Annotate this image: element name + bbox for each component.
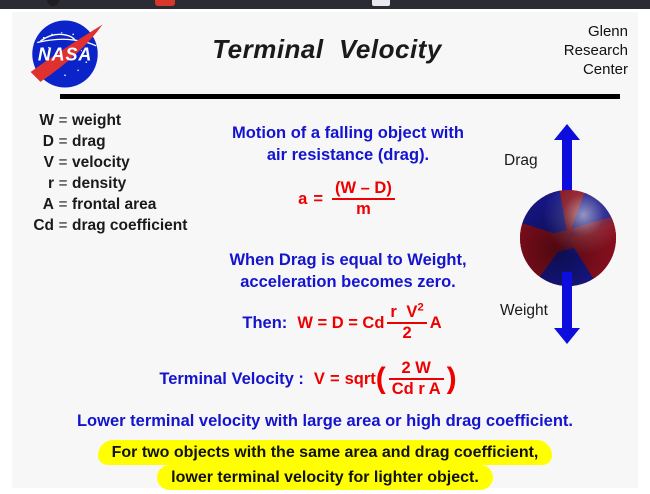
legend-symbol: V — [22, 152, 54, 173]
drag-equation-area: A — [430, 314, 442, 333]
nasa-logo: NASA — [24, 18, 106, 90]
highlighted-conclusion: For two objects with the same area and d… — [20, 440, 630, 490]
weight-arrow-shaft — [562, 272, 572, 332]
open-paren: ( — [376, 368, 386, 390]
weight-label: Weight — [500, 302, 548, 320]
tab-favicon-dark-icon[interactable] — [47, 0, 59, 6]
conclusion-line: Lower terminal velocity with large area … — [20, 412, 630, 431]
acceleration-lhs: a — [298, 190, 307, 209]
drag-equation: Then: W = D = Cd r V2 2 A — [162, 304, 522, 343]
terminal-velocity-numerator: 2 W — [399, 360, 434, 377]
terminal-velocity-label: Terminal Velocity : — [159, 370, 314, 389]
acceleration-numerator: (W – D) — [332, 180, 395, 197]
svg-text:NASA: NASA — [38, 45, 92, 65]
numerator-velocity: V — [401, 303, 417, 321]
terminal-velocity-equals: = — [325, 370, 345, 389]
numerator-exponent: 2 — [417, 302, 423, 314]
motion-statement: Motion of a falling object with air resi… — [188, 122, 508, 166]
legend-equals: = — [54, 110, 72, 131]
legend-equals: = — [54, 215, 72, 236]
motion-statement-line-2: air resistance (drag). — [188, 144, 508, 166]
legend-symbol: r — [22, 173, 54, 194]
center-name-line-3: Center — [508, 60, 628, 79]
legend-equals: = — [54, 194, 72, 215]
force-diagram: Drag Weight — [502, 120, 638, 348]
numerator-density: r — [390, 303, 396, 321]
research-center-name: Glenn Research Center — [508, 22, 628, 79]
terminal-velocity-denominator: Cd r A — [389, 381, 444, 398]
tab-favicon-red-icon[interactable] — [155, 0, 175, 6]
center-name-line-1: Glenn — [508, 22, 628, 41]
drag-label: Drag — [504, 152, 538, 170]
legend-symbol: A — [22, 194, 54, 215]
sqrt-function: sqrt — [345, 370, 376, 389]
condition-line-1: When Drag is equal to Weight, — [188, 249, 508, 271]
tab-favicon-light-icon[interactable] — [372, 0, 390, 6]
equilibrium-condition: When Drag is equal to Weight, accelerati… — [188, 249, 508, 293]
highlighted-line-2: lower terminal velocity for lighter obje… — [157, 465, 493, 490]
drag-equation-lhs: W = D = Cd — [297, 314, 384, 333]
legend-symbol: Cd — [22, 215, 54, 236]
legend-symbol: W — [22, 110, 54, 131]
acceleration-denominator: m — [353, 201, 374, 218]
drag-equation-fraction: r V2 2 — [387, 304, 426, 343]
drag-equation-denominator: 2 — [399, 325, 414, 342]
header-divider — [60, 94, 620, 99]
arrow-down-icon — [554, 328, 580, 344]
highlighted-line-1: For two objects with the same area and d… — [98, 440, 553, 465]
center-name-line-2: Research — [508, 41, 628, 60]
drag-equation-numerator: r V2 — [387, 304, 426, 321]
close-paren: ) — [447, 368, 457, 390]
terminal-velocity-fraction: 2 W Cd r A — [389, 360, 444, 399]
lesson-page-panel: NASA Terminal Velocity Glenn Research Ce… — [12, 12, 638, 488]
legend-symbol: D — [22, 131, 54, 152]
acceleration-equation: a = (W – D) m — [188, 180, 508, 219]
drag-arrow-shaft — [562, 136, 572, 196]
motion-statement-line-1: Motion of a falling object with — [188, 122, 508, 144]
terminal-velocity-equation: Terminal Velocity : V = sqrt ( 2 W Cd r … — [98, 360, 518, 399]
page-title: Terminal Velocity — [162, 34, 492, 65]
condition-line-2: acceleration becomes zero. — [188, 271, 508, 293]
then-prefix: Then: — [242, 314, 297, 333]
legend-equals: = — [54, 131, 72, 152]
legend-equals: = — [54, 173, 72, 194]
acceleration-fraction: (W – D) m — [332, 180, 395, 219]
terminal-velocity-lhs: V — [314, 370, 325, 389]
legend-equals: = — [54, 152, 72, 173]
acceleration-equals: = — [307, 190, 329, 209]
page-header: NASA Terminal Velocity Glenn Research Ce… — [12, 12, 638, 96]
browser-chrome-strip — [0, 0, 650, 9]
